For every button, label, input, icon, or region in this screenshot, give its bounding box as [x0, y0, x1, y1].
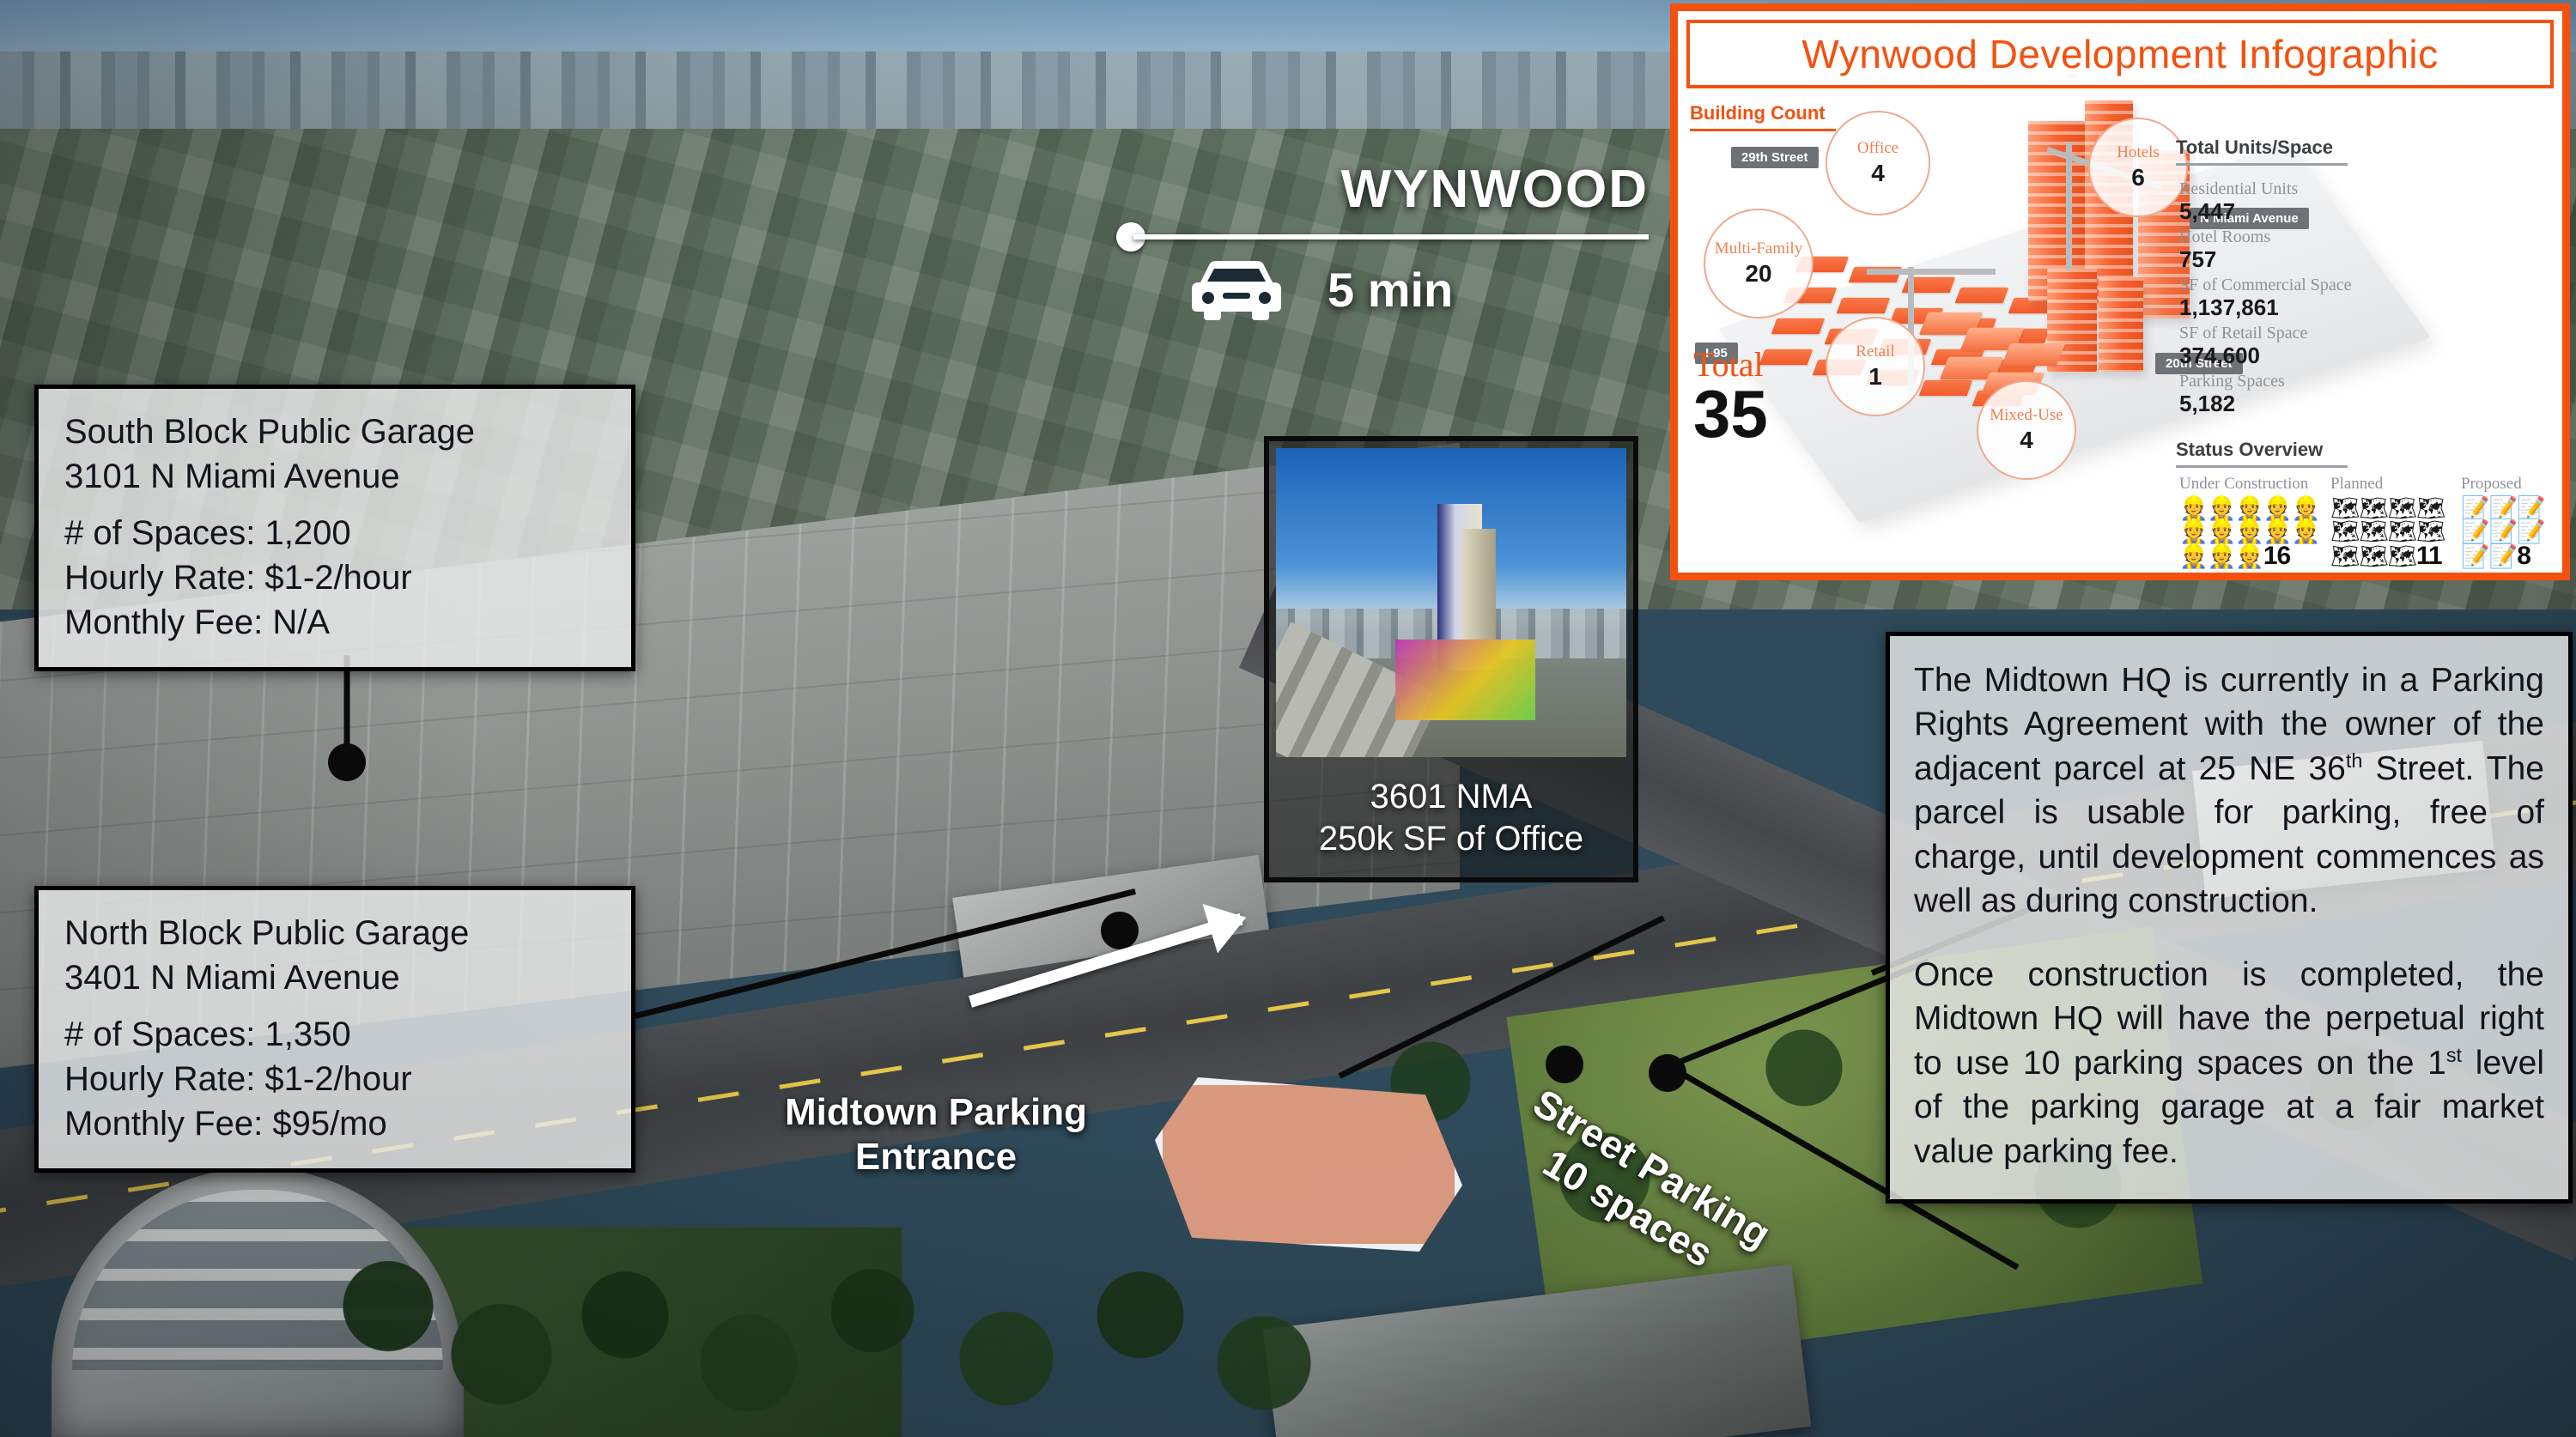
total-building-count: Total 35	[1693, 348, 1768, 446]
document-icon-row-3: 📝📝8	[2461, 543, 2573, 569]
building-count-heading-text: Building Count	[1690, 102, 1826, 124]
nma-caption: 3601 NMA 250k SF of Office	[1269, 764, 1633, 877]
status-label-proposed: Proposed	[2461, 475, 2522, 494]
car-icon	[1185, 253, 1288, 325]
parking-entrance-line-1: Midtown Parking	[756, 1090, 1116, 1135]
drive-time-row: 5 min	[1185, 253, 1453, 325]
blueprint-icon-row-1: 🗺🗺🗺🗺	[2330, 497, 2459, 520]
north-garage-name: North Block Public Garage	[64, 911, 605, 955]
north-garage-spaces: # of Spaces: 1,350	[64, 1012, 605, 1057]
multi-family-label: Multi-Family	[1715, 240, 1802, 258]
status-value-under-construction: 16	[2263, 542, 2290, 570]
stat-label-commercial-sf: SF of Commercial Space	[2179, 276, 2352, 295]
stat-label-parking-spaces: Parking Spaces	[2179, 372, 2285, 391]
hotels-value: 6	[2131, 164, 2145, 191]
stat-value-parking-spaces: 5,182	[2179, 391, 2235, 417]
status-icons-planned: 🗺🗺🗺🗺 🗺🗺🗺🗺 🗺🗺🗺11	[2330, 497, 2459, 569]
notes-paragraph-2: Once construction is completed, the Midt…	[1914, 953, 2544, 1173]
construction-worker-icon-row-3: 👷👷👷16	[2179, 543, 2325, 569]
building-count-heading: Building Count	[1690, 102, 1836, 131]
document-icon-row-1: 📝📝📝	[2461, 497, 2573, 520]
highlighted-parcel	[1155, 1077, 1462, 1252]
construction-worker-icon-row-2: 👷👷👷👷👷	[2179, 520, 2325, 543]
stat-value-retail-sf: 374,600	[2179, 343, 2260, 369]
infographic-body: Building Count 29th Street I-95 N Miami …	[1678, 97, 2562, 578]
marker-dot-north-garage	[1101, 912, 1139, 949]
office-value: 4	[1871, 160, 1885, 187]
south-garage-hourly: Hourly Rate: $1-2/hour	[64, 555, 605, 600]
north-block-garage-callout: North Block Public Garage 3401 N Miami A…	[34, 886, 635, 1173]
construction-worker-icon-row-1: 👷👷👷👷👷	[2179, 497, 2325, 520]
retail-label: Retail	[1856, 343, 1894, 361]
building-type-hotels: Hotels 6	[2088, 118, 2188, 217]
nma-rendering-card: 3601 NMA 250k SF of Office	[1264, 436, 1638, 882]
blueprint-icon-row-3: 🗺🗺🗺11	[2330, 543, 2459, 569]
mixed-use-value: 4	[2020, 427, 2033, 454]
parking-entrance-line-2: Entrance	[756, 1135, 1116, 1179]
north-garage-monthly: Monthly Fee: $95/mo	[64, 1101, 605, 1146]
multi-family-value: 20	[1745, 260, 1771, 288]
total-value: 35	[1693, 382, 1768, 446]
status-icons-under-construction: 👷👷👷👷👷 👷👷👷👷👷 👷👷👷16	[2179, 497, 2325, 569]
stat-label-hotel-rooms: Hotel Rooms	[2179, 227, 2270, 247]
notes-paragraph-1: The Midtown HQ is currently in a Parking…	[1914, 658, 2544, 924]
stat-label-residential-units: Residential Units	[2179, 179, 2298, 199]
status-value-proposed: 8	[2517, 542, 2530, 570]
stat-value-commercial-sf: 1,137,861	[2179, 294, 2279, 321]
infographic-title-box: Wynwood Development Infographic	[1686, 20, 2554, 88]
stat-label-retail-sf: SF of Retail Space	[2179, 324, 2307, 343]
status-label-planned: Planned	[2330, 475, 2383, 494]
document-icon-row-2: 📝📝📝	[2461, 520, 2573, 543]
status-overview-heading-text: Status Overview	[2176, 439, 2323, 460]
drive-time-label: 5 min	[1327, 262, 1453, 318]
stat-value-hotel-rooms: 757	[2179, 246, 2216, 273]
status-icons-proposed: 📝📝📝 📝📝📝 📝📝8	[2461, 497, 2573, 569]
building-type-office: Office 4	[1826, 111, 1930, 215]
wynwood-label: WYNWOOD	[1202, 159, 1649, 220]
status-value-planned: 11	[2416, 542, 2442, 570]
hotel-tower-3	[2099, 277, 2143, 372]
street-chip-29th: 29th Street	[1731, 147, 1819, 168]
slide-root: WYNWOOD 5 min South Block Public Garage …	[0, 0, 2576, 1437]
stat-value-residential-units: 5,447	[2179, 198, 2235, 225]
marker-dot-south-garage	[328, 743, 366, 781]
retail-box-3	[2002, 343, 2066, 366]
office-label: Office	[1857, 139, 1899, 158]
retail-value: 1	[1868, 363, 1882, 391]
notes-p2-ordinal: st	[2446, 1044, 2462, 1066]
crane-jib-1	[1867, 269, 1996, 275]
marker-dot-parcel-a	[1546, 1046, 1583, 1083]
infographic-title: Wynwood Development Infographic	[1801, 31, 2438, 77]
blueprint-icon-row-2: 🗺🗺🗺🗺	[2330, 520, 2459, 543]
midtown-hq-notes-panel: The Midtown HQ is currently in a Parking…	[1886, 632, 2573, 1204]
wynwood-leader-line	[1133, 234, 1649, 240]
nma-subtitle: 250k SF of Office	[1278, 818, 1625, 860]
nma-rendering-image	[1276, 448, 1626, 757]
rendering-podium	[1395, 640, 1535, 720]
nma-title: 3601 NMA	[1278, 776, 1625, 818]
south-garage-name: South Block Public Garage	[64, 409, 605, 454]
notes-p1-ordinal: th	[2346, 749, 2363, 772]
south-block-garage-callout: South Block Public Garage 3101 N Miami A…	[34, 385, 635, 671]
palm-trees	[326, 1219, 1357, 1437]
marker-dot-parcel-b	[1649, 1054, 1686, 1092]
building-type-retail: Retail 1	[1826, 317, 1925, 416]
north-garage-hourly: Hourly Rate: $1-2/hour	[64, 1057, 605, 1101]
wynwood-marker: WYNWOOD 5 min	[1202, 159, 1649, 220]
north-garage-address: 3401 N Miami Avenue	[64, 955, 605, 1000]
south-garage-monthly: Monthly Fee: N/A	[64, 600, 605, 645]
wynwood-development-infographic: Wynwood Development Infographic	[1670, 3, 2570, 580]
total-units-heading-text: Total Units/Space	[2176, 136, 2333, 158]
hotels-label: Hotels	[2117, 143, 2160, 162]
south-garage-address: 3101 N Miami Avenue	[64, 454, 605, 499]
building-type-mixed-use: Mixed-Use 4	[1977, 380, 2076, 480]
mixed-use-label: Mixed-Use	[1990, 406, 2063, 425]
status-label-under-construction: Under Construction	[2179, 475, 2308, 494]
status-overview-heading: Status Overview	[2176, 439, 2348, 468]
midtown-parking-entrance-label: Midtown Parking Entrance	[756, 1090, 1116, 1179]
south-garage-spaces: # of Spaces: 1,200	[64, 511, 605, 555]
total-units-heading: Total Units/Space	[2176, 136, 2348, 166]
building-type-multi-family: Multi-Family 20	[1704, 209, 1814, 318]
